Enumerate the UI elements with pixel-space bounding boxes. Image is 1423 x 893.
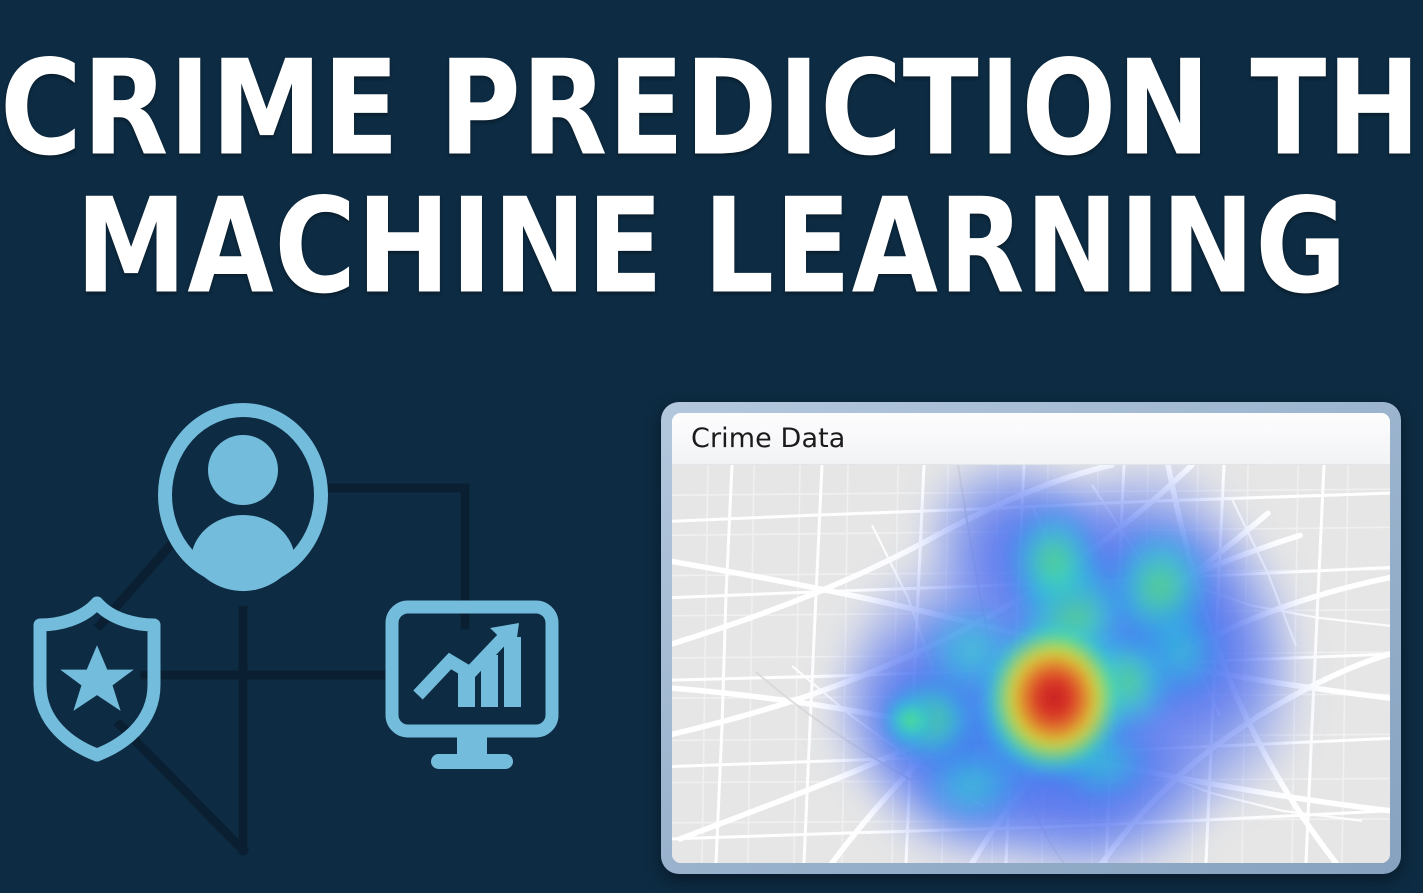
connector-shield-to-bottom: [120, 725, 243, 850]
map-window: Crime Data: [672, 413, 1390, 863]
monitor-analytics-chart-icon: [392, 607, 552, 769]
map-panel-header: Crime Data: [672, 413, 1390, 465]
poster-canvas: CRIME PREDICTION THROUGH MACHINE LEARNIN…: [0, 0, 1423, 893]
crime-data-map-panel[interactable]: Crime Data: [661, 402, 1401, 874]
map-panel-title: Crime Data: [691, 423, 845, 454]
heat-primary-hotspot: [980, 618, 1128, 779]
title-line-2: MACHINE LEARNING: [0, 187, 1423, 308]
heat-secondary-hotspot: [880, 692, 940, 748]
map-canvas[interactable]: [672, 465, 1390, 863]
concept-icon-network: [0, 385, 620, 893]
crime-heatmap-overlay: [672, 465, 1390, 863]
page-title: CRIME PREDICTION THROUGH MACHINE LEARNIN…: [0, 0, 1423, 304]
title-line-1: CRIME PREDICTION THROUGH: [0, 49, 1423, 170]
user-profile-icon: [165, 410, 321, 591]
